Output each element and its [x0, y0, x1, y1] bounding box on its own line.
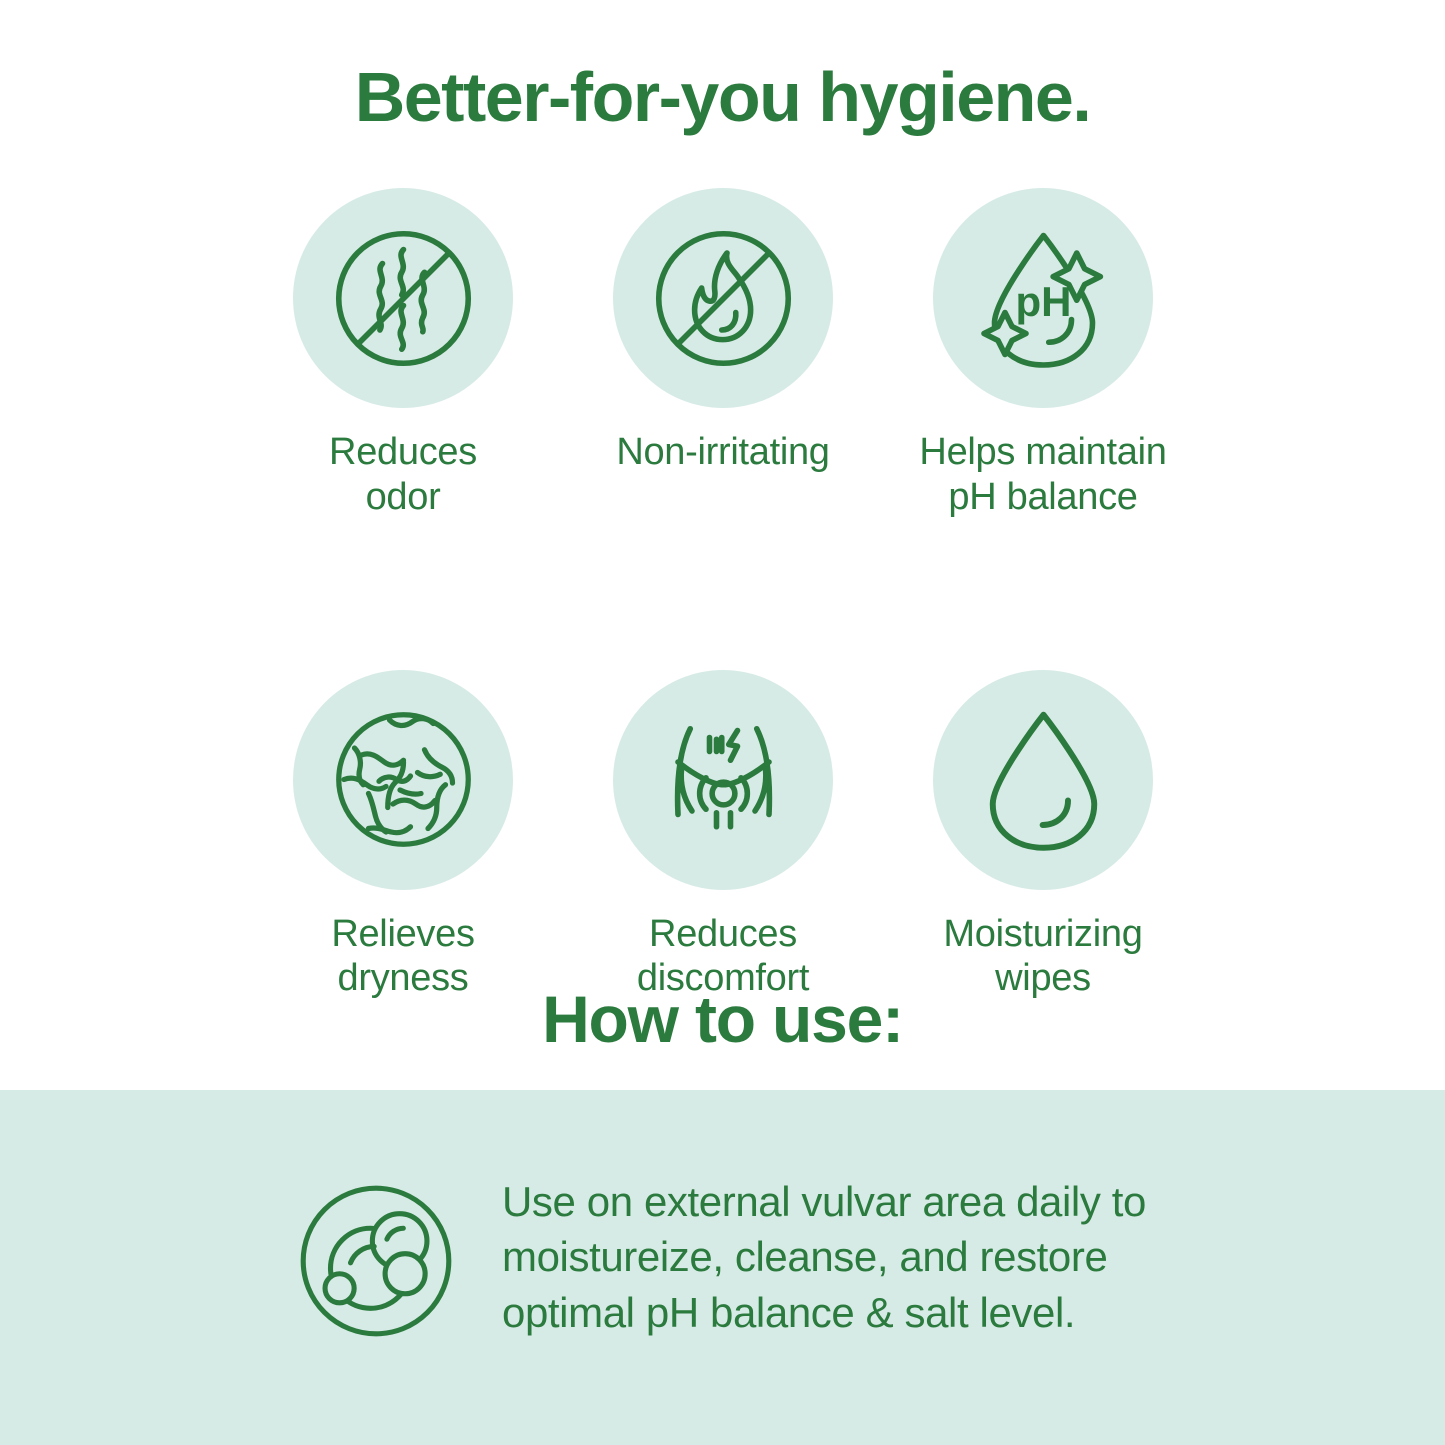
infographic-page: Better-for-you hygiene. — [0, 0, 1445, 1445]
droplet-icon — [956, 692, 1131, 867]
bubbles-icon — [285, 1170, 467, 1352]
icon-circle-reduces-discomfort — [613, 670, 833, 890]
benefit-reduces-odor: Reduces odor — [248, 188, 558, 520]
benefits-row-1: Reduces odor Non-irritating — [248, 188, 1198, 520]
benefits-row-2: Relieves dryness — [248, 670, 1198, 1002]
benefit-reduces-discomfort: Reduces discomfort — [568, 670, 878, 1002]
ph-droplet-sparkle-icon: pH — [956, 211, 1131, 386]
benefit-non-irritating: Non-irritating — [568, 188, 878, 475]
pelvic-discomfort-icon — [636, 692, 811, 867]
how-to-use-title: How to use: — [0, 981, 1445, 1057]
benefit-ph-balance: pH Helps maintain pH balance — [888, 188, 1198, 520]
how-to-use-band: Use on external vulvar area daily to moi… — [0, 1090, 1445, 1445]
no-odor-icon — [316, 211, 491, 386]
icon-circle-moisturizing-wipes — [933, 670, 1153, 890]
benefit-moisturizing-wipes: Moisturizing wipes — [888, 670, 1198, 1002]
benefit-label: Non-irritating — [616, 430, 829, 475]
ph-icon-text: pH — [1015, 278, 1071, 325]
benefit-label: Reduces odor — [329, 430, 477, 520]
benefits-grid: Reduces odor Non-irritating — [248, 188, 1198, 1001]
how-to-use-text: Use on external vulvar area daily to moi… — [502, 1170, 1146, 1340]
icon-circle-ph-balance: pH — [933, 188, 1153, 408]
benefit-label: Helps maintain pH balance — [919, 430, 1166, 520]
icon-circle-relieves-dryness — [293, 670, 513, 890]
icon-circle-reduces-odor — [293, 188, 513, 408]
page-title: Better-for-you hygiene. — [0, 62, 1445, 132]
how-to-use-content: Use on external vulvar area daily to moi… — [285, 1170, 1146, 1352]
benefit-relieves-dryness: Relieves dryness — [248, 670, 558, 1002]
dry-skin-circle-icon — [316, 692, 491, 867]
icon-circle-non-irritating — [613, 188, 833, 408]
no-flame-icon — [636, 211, 811, 386]
